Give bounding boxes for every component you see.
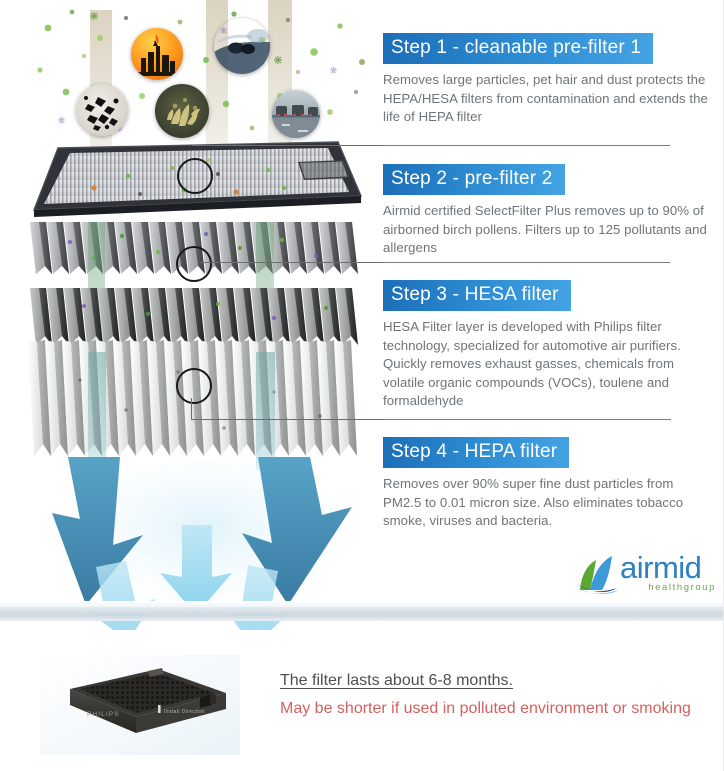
step-3-block: Step 3 - HESA filter HESA Filter layer i…: [383, 280, 713, 411]
step-4-block: Step 4 - HEPA filter Removes over 90% su…: [383, 437, 713, 531]
section-divider-highlight: [0, 601, 724, 607]
step-2-block: Step 2 - pre-filter 2 Airmid certified S…: [383, 164, 713, 258]
soot-flakes: [76, 84, 128, 136]
industrial-refinery-photo: [131, 28, 183, 80]
refinery-silhouette: [131, 28, 183, 80]
exhaust-pipe-shape: [214, 18, 270, 74]
callout-leader-step-4-vertical: [191, 398, 192, 420]
traffic-cars-shape: [272, 90, 320, 138]
airflow-teal-band-left: [88, 352, 106, 470]
infographic-canvas: airmid healthgroup: [0, 0, 724, 771]
airmid-logo-mark-icon: [574, 550, 620, 596]
mold-spore-shape: [155, 84, 209, 138]
step-3-divider: [383, 419, 670, 420]
device-svg: PHILIPS Install Direction: [40, 655, 240, 755]
callout-circle-step-1: [177, 158, 213, 194]
airmid-logo-subtitle: healthgroup: [620, 582, 716, 593]
car-exhaust-photo: [214, 18, 270, 74]
device-brand-text: PHILIPS: [87, 711, 120, 718]
step-1-banner: Step 1 - cleanable pre-filter 1: [383, 33, 653, 64]
step-3-description: HESA Filter layer is developed with Phil…: [383, 318, 713, 411]
filter-lifespan-text: The filter lasts about 6-8 months.: [280, 672, 513, 690]
callout-circle-step-2: [176, 246, 212, 282]
airflow-teal-band-right: [256, 352, 275, 470]
airmid-logo-wordmark: airmid: [620, 552, 701, 583]
section-divider-band: [0, 607, 724, 621]
philips-filter-device: PHILIPS Install Direction: [40, 655, 240, 755]
soot-ash-photo: [76, 84, 128, 136]
device-install-direction-text: Install Direction: [164, 709, 205, 715]
road-traffic-photo: [272, 90, 320, 138]
callout-circle-step-4: [176, 368, 212, 404]
filter-warning-text: May be shorter if used in polluted envir…: [280, 700, 691, 718]
step-2-description: Airmid certified SelectFilter Plus remov…: [383, 202, 713, 258]
step-1-block: Step 1 - cleanable pre-filter 1 Removes …: [383, 33, 713, 127]
step-3-banner: Step 3 - HESA filter: [383, 280, 571, 311]
pollen-mold-photo: [155, 84, 209, 138]
step-4-banner: Step 4 - HEPA filter: [383, 437, 569, 468]
step-1-divider: [383, 145, 670, 146]
step-2-banner: Step 2 - pre-filter 2: [383, 164, 565, 195]
step-4-description: Removes over 90% super fine dust particl…: [383, 475, 713, 531]
step-1-description: Removes large particles, pet hair and du…: [383, 71, 713, 127]
airmid-logo: airmid healthgroup: [574, 548, 714, 598]
step-2-divider: [383, 262, 670, 263]
